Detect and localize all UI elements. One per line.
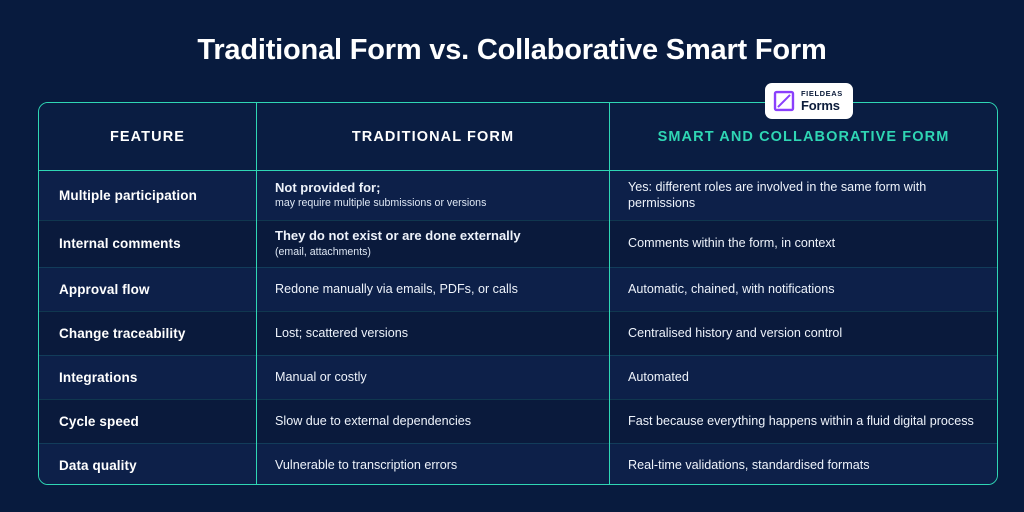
cell-traditional: Lost; scattered versions [256, 311, 609, 355]
smart-text: Automatic, chained, with notifications [628, 281, 981, 297]
table-row: Change traceabilityLost; scattered versi… [39, 311, 997, 355]
traditional-text: Vulnerable to transcription errors [275, 457, 595, 473]
traditional-text: They do not exist or are done externally [275, 228, 595, 245]
traditional-text: Redone manually via emails, PDFs, or cal… [275, 281, 595, 297]
table-header-row: FEATURE TRADITIONAL FORM SMART AND COLLA… [39, 103, 997, 171]
cell-traditional: They do not exist or are done externally… [256, 220, 609, 268]
cell-traditional: Slow due to external dependencies [256, 399, 609, 443]
table-row: Data qualityVulnerable to transcription … [39, 443, 997, 485]
table-body: Multiple participationNot provided for;m… [39, 171, 997, 485]
cell-feature: Data quality [39, 443, 256, 485]
traditional-subtext: (email, attachments) [275, 246, 595, 260]
feature-label: Cycle speed [59, 414, 256, 429]
logo-wordmark: FIELDEAS Forms [801, 90, 843, 112]
header-cell-feature: FEATURE [39, 103, 256, 170]
cell-smart: Fast because everything happens within a… [609, 399, 997, 443]
logo-brand: FIELDEAS [801, 90, 843, 98]
smart-text: Automated [628, 369, 981, 385]
cell-smart: Automatic, chained, with notifications [609, 267, 997, 311]
comparison-infographic: Traditional Form vs. Collaborative Smart… [0, 0, 1024, 512]
logo-product: Forms [801, 99, 843, 112]
header-cell-traditional: TRADITIONAL FORM [256, 103, 609, 170]
traditional-text: Lost; scattered versions [275, 325, 595, 341]
table-row: Approval flowRedone manually via emails,… [39, 267, 997, 311]
cell-smart: Yes: different roles are involved in the… [609, 171, 997, 220]
cell-feature: Change traceability [39, 311, 256, 355]
table-row: IntegrationsManual or costlyAutomated [39, 355, 997, 399]
cell-smart: Automated [609, 355, 997, 399]
feature-label: Change traceability [59, 326, 256, 341]
smart-text: Fast because everything happens within a… [628, 413, 981, 429]
table-row: Internal commentsThey do not exist or ar… [39, 220, 997, 268]
cell-feature: Internal comments [39, 220, 256, 268]
cell-traditional: Not provided for;may require multiple su… [256, 171, 609, 220]
smart-text: Comments within the form, in context [628, 235, 981, 251]
cell-feature: Integrations [39, 355, 256, 399]
cell-traditional: Vulnerable to transcription errors [256, 443, 609, 485]
cell-smart: Centralised history and version control [609, 311, 997, 355]
cell-traditional: Redone manually via emails, PDFs, or cal… [256, 267, 609, 311]
cell-smart: Real-time validations, standardised form… [609, 443, 997, 485]
traditional-text: Not provided for; [275, 180, 595, 197]
traditional-text: Manual or costly [275, 369, 595, 385]
feature-label: Internal comments [59, 236, 256, 251]
feature-label: Multiple participation [59, 188, 256, 203]
header-label-traditional: TRADITIONAL FORM [352, 129, 514, 145]
cell-traditional: Manual or costly [256, 355, 609, 399]
comparison-table: FEATURE TRADITIONAL FORM SMART AND COLLA… [38, 102, 998, 485]
cell-feature: Multiple participation [39, 171, 256, 220]
cell-feature: Approval flow [39, 267, 256, 311]
smart-text: Real-time validations, standardised form… [628, 457, 981, 473]
header-label-smart: SMART AND COLLABORATIVE FORM [658, 129, 950, 145]
smart-text: Centralised history and version control [628, 325, 981, 341]
cell-feature: Cycle speed [39, 399, 256, 443]
traditional-text: Slow due to external dependencies [275, 413, 595, 429]
table-row: Multiple participationNot provided for;m… [39, 171, 997, 220]
feature-label: Integrations [59, 370, 256, 385]
smart-text: Yes: different roles are involved in the… [628, 179, 981, 212]
page-title: Traditional Form vs. Collaborative Smart… [0, 34, 1024, 67]
header-label-feature: FEATURE [110, 129, 185, 145]
fieldeas-forms-logo: FIELDEAS Forms [765, 83, 853, 119]
fieldeas-square-slash-icon [773, 90, 795, 112]
table-row: Cycle speedSlow due to external dependen… [39, 399, 997, 443]
traditional-subtext: may require multiple submissions or vers… [275, 197, 595, 211]
feature-label: Approval flow [59, 282, 256, 297]
feature-label: Data quality [59, 458, 256, 473]
cell-smart: Comments within the form, in context [609, 220, 997, 268]
